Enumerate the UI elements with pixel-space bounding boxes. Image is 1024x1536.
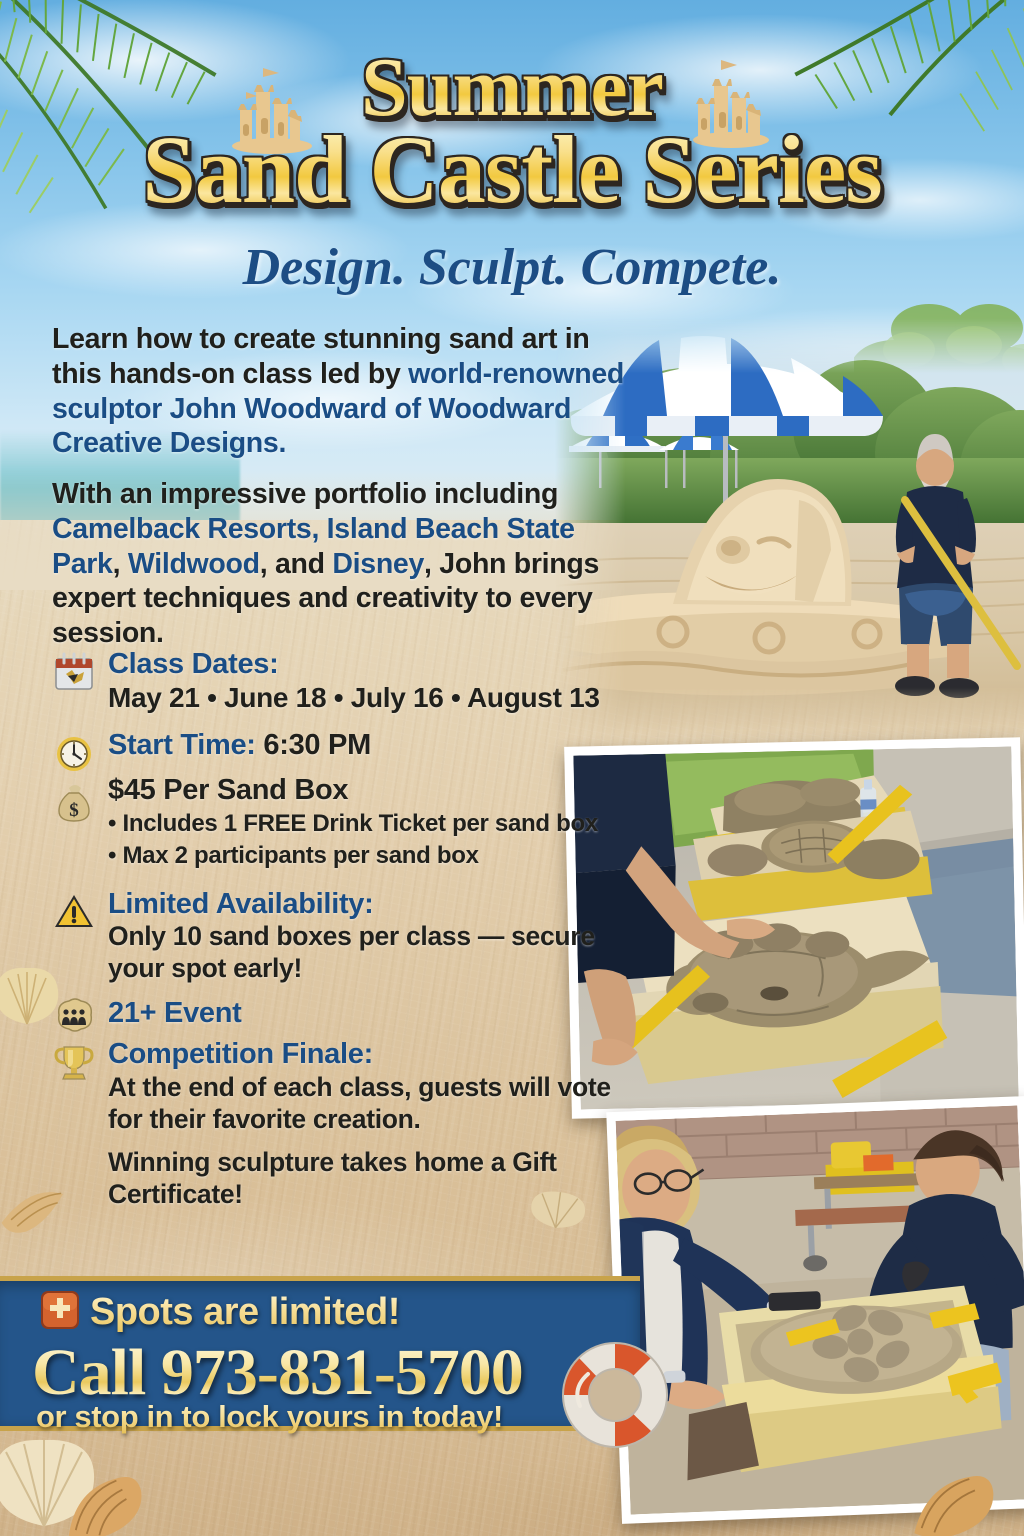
poster-title-line-2: Sand Castle Series [142,124,881,215]
class-dates-label: Class Dates: [108,648,632,681]
photo-fish-sandboxes [564,737,1024,1118]
intro-p2-bold-disney: Disney [332,548,424,580]
life-ring-icon [560,1340,670,1450]
intro-p2-plain-a: With an impressive portfolio including [52,478,558,510]
cta-banner[interactable]: Spots are limited! Call 973-831-5700 or … [0,1276,640,1431]
intro-p2-comma: , [113,548,128,580]
people-badge-icon [52,995,96,1039]
intro-paragraph-1: Learn how to create stunning sand art in… [52,322,632,461]
intro-p2-and: , and [260,548,333,580]
detail-limited-availability: Limited Availability: Only 10 sand boxes… [52,888,632,985]
calendar-icon [52,650,96,694]
detail-age-restriction: 21+ Event [52,997,632,1030]
class-dates-value: May 21 • June 18 • July 16 • August 13 [108,681,632,715]
competition-finale-value-2: Winning sculpture takes home a Gift Cert… [108,1147,632,1211]
svg-text:$: $ [69,800,79,821]
warning-triangle-icon [52,890,96,934]
detail-competition-finale: Competition Finale: At the end of each c… [52,1038,632,1211]
price-bullet-1-tail: per sand box [446,810,598,837]
limited-availability-label: Limited Availability: [108,888,632,921]
details-list: Class Dates: May 21 • June 18 • July 16 … [52,648,632,1218]
photo-women-flower-sculpture [606,1096,1024,1524]
competition-finale-value: At the end of each class, guests will vo… [108,1072,632,1136]
detail-price: $ $45 Per Sand Box Includes 1 FREE Drink… [52,774,632,872]
poster-subtitle: Design. Sculpt. Compete. [0,238,1024,297]
poster-title-block: Summer Sand Castle Series [0,48,1024,215]
title-line-2-row: Sand Castle Series [0,124,1024,215]
money-bag-icon: $ [52,780,96,824]
competition-finale-label: Competition Finale: [108,1038,632,1071]
trophy-icon [52,1040,96,1084]
limited-availability-value: Only 10 sand boxes per class — secure yo… [108,921,632,985]
intro-copy: Learn how to create stunning sand art in… [52,322,632,667]
cta-line-1: Spots are limited! [90,1291,400,1334]
clock-icon [52,731,96,775]
intro-p2-bold-wildwood: Wildwood [128,548,260,580]
cta-line-3: or stop in to lock yours in today! [36,1399,503,1435]
start-time-row: Start Time: 6:30 PM [108,729,632,762]
intro-paragraph-2: With an impressive portfolio including C… [52,477,632,651]
price-bullet-1: Includes 1 FREE Drink Ticket per sand bo… [108,808,632,840]
start-time-label: Start Time: [108,729,256,761]
detail-start-time: Start Time: 6:30 PM [52,729,632,762]
poster-root: Summer Sand Castle Series Design. Sculpt… [0,0,1024,1536]
age-restriction-label: 21+ Event [108,997,632,1030]
start-time-value: 6:30 PM [263,729,371,761]
price-bullet-2: Max 2 participants per sand box [108,840,632,872]
detail-class-dates: Class Dates: May 21 • June 18 • July 16 … [52,648,632,715]
ticket-plus-icon [39,1289,81,1331]
price-bullet-1-bold: Includes 1 FREE Drink Ticket [122,810,445,837]
price-bullets: Includes 1 FREE Drink Ticket per sand bo… [108,808,632,872]
price-label: $45 Per Sand Box [108,774,632,807]
